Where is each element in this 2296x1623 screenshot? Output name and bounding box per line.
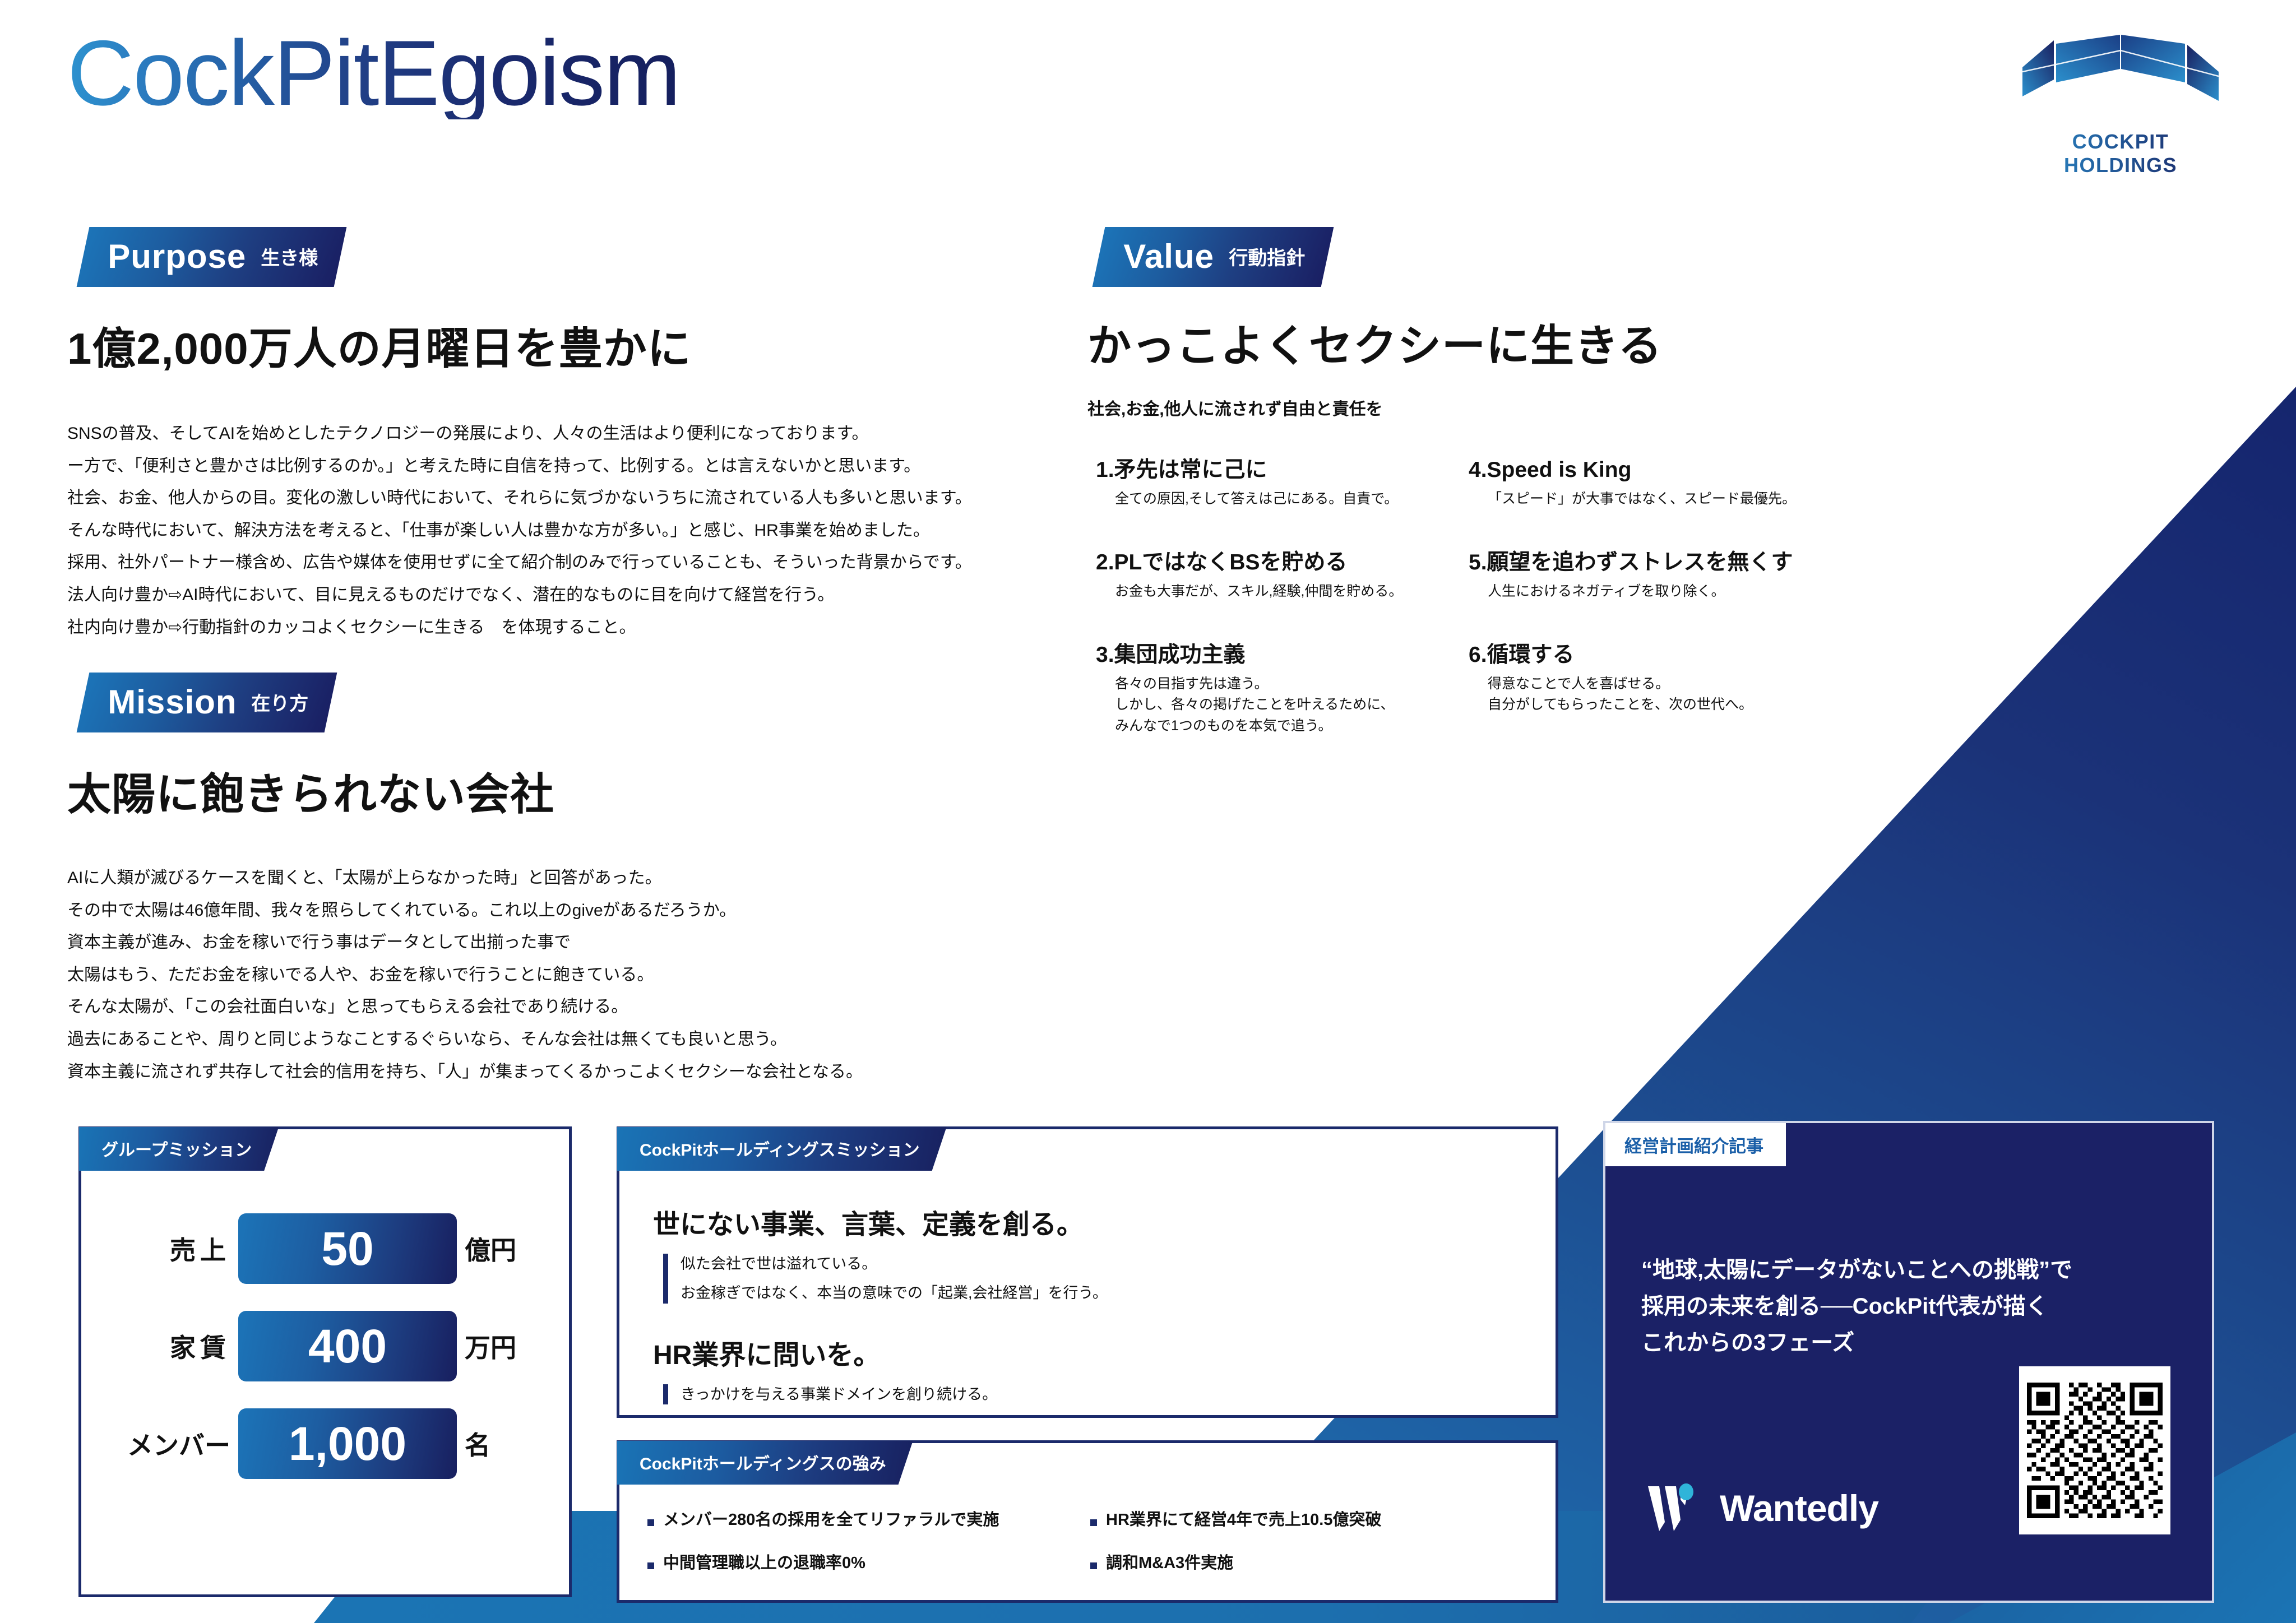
mission-headline: 太陽に飽きられない会社 [67,759,554,822]
strengths-tab: CockPitホールディングスの強み [617,1441,913,1485]
strength-text: メンバー280名の採用を全てリファラルで実施 [663,1510,999,1530]
value-item-1-detail: 全ての原因,そして答えは己にある。自責で。 [1115,489,1466,510]
group-mission-row-unit: 万円 [465,1328,549,1365]
mission-badge-jp: 在り方 [252,688,309,716]
group-mission-row-unit: 億円 [465,1230,549,1267]
holdings-mission-line: きっかけを与える事業ドメインを創り続ける。 [681,1384,1522,1404]
group-mission-row-value: 1,000 [238,1408,457,1479]
value-item-6-heading: 6.循環する [1469,642,1861,669]
value-item-5-detail: 人生におけるネガティブを取り除く。 [1488,581,1861,602]
holdings-mission-heading-1: 世にない事業、言葉、定義を創る。 [653,1202,1522,1241]
purpose-badge-en: Purpose [108,237,246,276]
strength-text: 中間管理職以上の退職率0% [663,1554,865,1573]
strength-text: HR業界にて経営4年で売上10.5億突破 [1106,1510,1381,1530]
holdings-mission-quote-2: きっかけを与える事業ドメインを創り続ける。 [663,1384,1522,1404]
article-panel[interactable]: 経営計画紹介記事 “地球,太陽にデータがないことへの挑戦”で 採用の未来を創る─… [1603,1121,2214,1603]
value-item-4: 4.Speed is King 「スピード」が大事ではなく、スピード最優先。 [1469,457,1861,509]
strength-item: 中間管理職以上の退職率0% [647,1554,1090,1573]
wantedly-wordmark: Wantedly [1720,1487,1878,1529]
group-mission-row-unit: 名 [465,1425,549,1462]
value-item-1: 1.矛先は常に己に 全ての原因,そして答えは己にある。自責で。 [1096,457,1466,509]
holdings-mission-tab: CockPitホールディングスミッション [617,1127,947,1171]
value-item-2: 2.PLではなくBSを貯める お金も大事だが、スキル,経験,仲間を貯める。 [1096,549,1466,602]
cockpit-arc-logo-icon [2022,35,2219,124]
group-mission-row: 売上 50 億円 [81,1213,569,1284]
strength-item: 調和M&A3件実施 [1090,1554,1533,1573]
value-item-4-detail: 「スピード」が大事ではなく、スピード最優先。 [1488,489,1861,510]
bullet-icon [1090,1562,1097,1569]
value-item-4-heading: 4.Speed is King [1469,457,1861,484]
wantedly-brand: Wantedly [1646,1483,1878,1533]
group-mission-row: メンバー 1,000 名 [81,1408,569,1479]
holdings-mission-heading-2: HR業界に問いを。 [653,1333,1522,1372]
value-item-6-detail: 得意なことで人を喜ばせる。 自分がしてもらったことを、次の世代へ。 [1488,674,1861,716]
group-mission-row: 家賃 400 万円 [81,1311,569,1381]
group-mission-panel: グループミッション 売上 50 億円 家賃 400 万円 メンバー 1,000 … [78,1126,572,1597]
value-subtitle: 社会,お金,他人に流されず自由と責任を [1087,395,1383,420]
wantedly-w-logo-icon [1646,1483,1707,1533]
holdings-mission-quote-1: 似た会社で世は溢れている。 お金稼ぎではなく、本当の意味での「起業,会社経営」を… [663,1254,1522,1304]
value-item-1-heading: 1.矛先は常に己に [1096,457,1466,484]
value-item-3-heading: 3.集団成功主義 [1096,642,1466,669]
value-item-5-heading: 5.願望を追わずストレスを無くす [1469,549,1861,577]
group-mission-row-value: 400 [238,1311,457,1381]
group-mission-tab: グループミッション [79,1127,279,1171]
article-tab: 経営計画紹介記事 [1605,1123,1786,1166]
value-headline: かっこよくセクシーに生きる [1087,311,1662,374]
value-item-3: 3.集団成功主義 各々の目指す先は違う。 しかし、各々の掲げたことを叶えるために… [1096,642,1466,736]
mission-badge-en: Mission [108,683,237,721]
value-item-5: 5.願望を追わずストレスを無くす 人生におけるネガティブを取り除く。 [1469,549,1861,602]
value-item-6: 6.循環する 得意なことで人を喜ばせる。 自分がしてもらったことを、次の世代へ。 [1469,642,1861,716]
qr-code-icon [2027,1374,2163,1527]
group-mission-row-value: 50 [238,1213,457,1284]
qr-code[interactable] [2019,1366,2170,1534]
strength-item: HR業界にて経営4年で売上10.5億突破 [1090,1510,1533,1530]
purpose-body: SNSの普及、そしてAIを始めとしたテクノロジーの発展により、人々の生活はより便… [67,418,1054,643]
strength-item: メンバー280名の採用を全てリファラルで実施 [647,1510,1090,1530]
strengths-panel: CockPitホールディングスの強み メンバー280名の採用を全てリファラルで実… [617,1440,1558,1603]
holdings-mission-line: 似た会社で世は溢れている。 [681,1254,1522,1274]
logo-wordmark: COCKPIT HOLDINGS [2022,130,2219,177]
article-headline: “地球,太陽にデータがないことへの挑戦”で 採用の未来を創る──CockPit代… [1641,1252,2184,1361]
value-badge-en: Value [1123,237,1214,276]
value-item-3-detail: 各々の目指す先は違う。 しかし、各々の掲げたことを叶えるために、 みんなで1つの… [1115,674,1466,737]
bullet-icon [1090,1519,1097,1526]
purpose-headline: 1億2,000万人の月曜日を豊かに [67,314,692,377]
value-badge: Value行動指針 [1093,227,1334,287]
value-item-2-heading: 2.PLではなくBSを貯める [1096,549,1466,577]
group-mission-row-label: メンバー [101,1425,230,1462]
group-mission-row-label: 売上 [101,1230,230,1267]
value-item-2-detail: お金も大事だが、スキル,経験,仲間を貯める。 [1115,581,1466,602]
strength-text: 調和M&A3件実施 [1106,1554,1233,1573]
holdings-mission-panel: CockPitホールディングスミッション 世にない事業、言葉、定義を創る。 似た… [617,1126,1558,1418]
value-badge-jp: 行動指針 [1229,243,1305,270]
bullet-icon [647,1519,654,1526]
poster-root: CockPitEgoism [0,0,2296,1623]
mission-badge: Mission在り方 [77,673,337,732]
company-logo: COCKPIT HOLDINGS [2022,35,2219,177]
page-title: CockPitEgoism [67,27,680,119]
purpose-badge: Purpose生き様 [77,227,347,287]
holdings-mission-line: お金稼ぎではなく、本当の意味での「起業,会社経営」を行う。 [681,1283,1522,1303]
group-mission-row-label: 家賃 [101,1328,230,1365]
bullet-icon [647,1562,654,1569]
mission-body: AIに人類が滅びるケースを聞くと、「太陽が上らなかった時」と回答があった。 その… [67,862,1054,1088]
purpose-badge-jp: 生き様 [261,243,318,270]
